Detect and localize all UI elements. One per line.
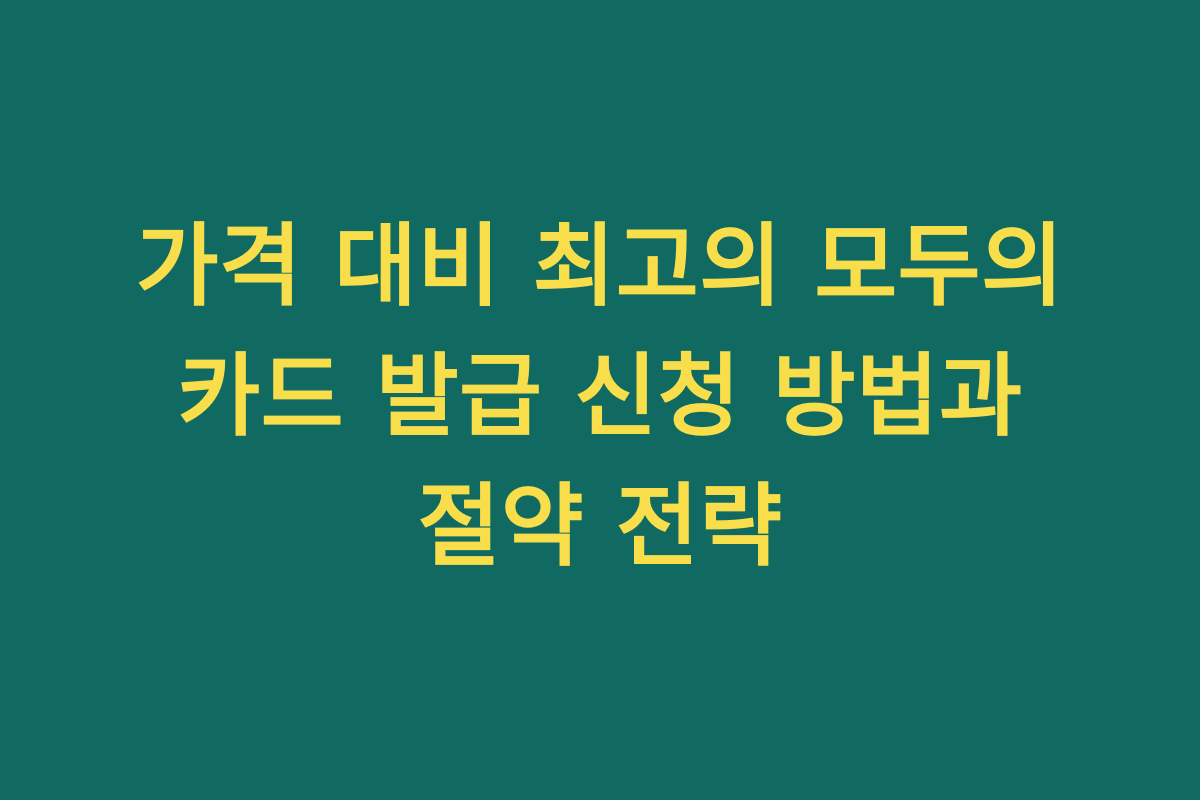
banner-canvas: 가격 대비 최고의 모두의 카드 발급 신청 방법과 절약 전략	[0, 0, 1200, 800]
page-title: 가격 대비 최고의 모두의 카드 발급 신청 방법과 절약 전략	[50, 202, 1150, 592]
title-line-2: 카드 발급 신청 방법과	[177, 332, 1022, 462]
title-line-3: 절약 전략	[417, 462, 782, 592]
title-line-1: 가격 대비 최고의 모두의	[136, 202, 1065, 332]
